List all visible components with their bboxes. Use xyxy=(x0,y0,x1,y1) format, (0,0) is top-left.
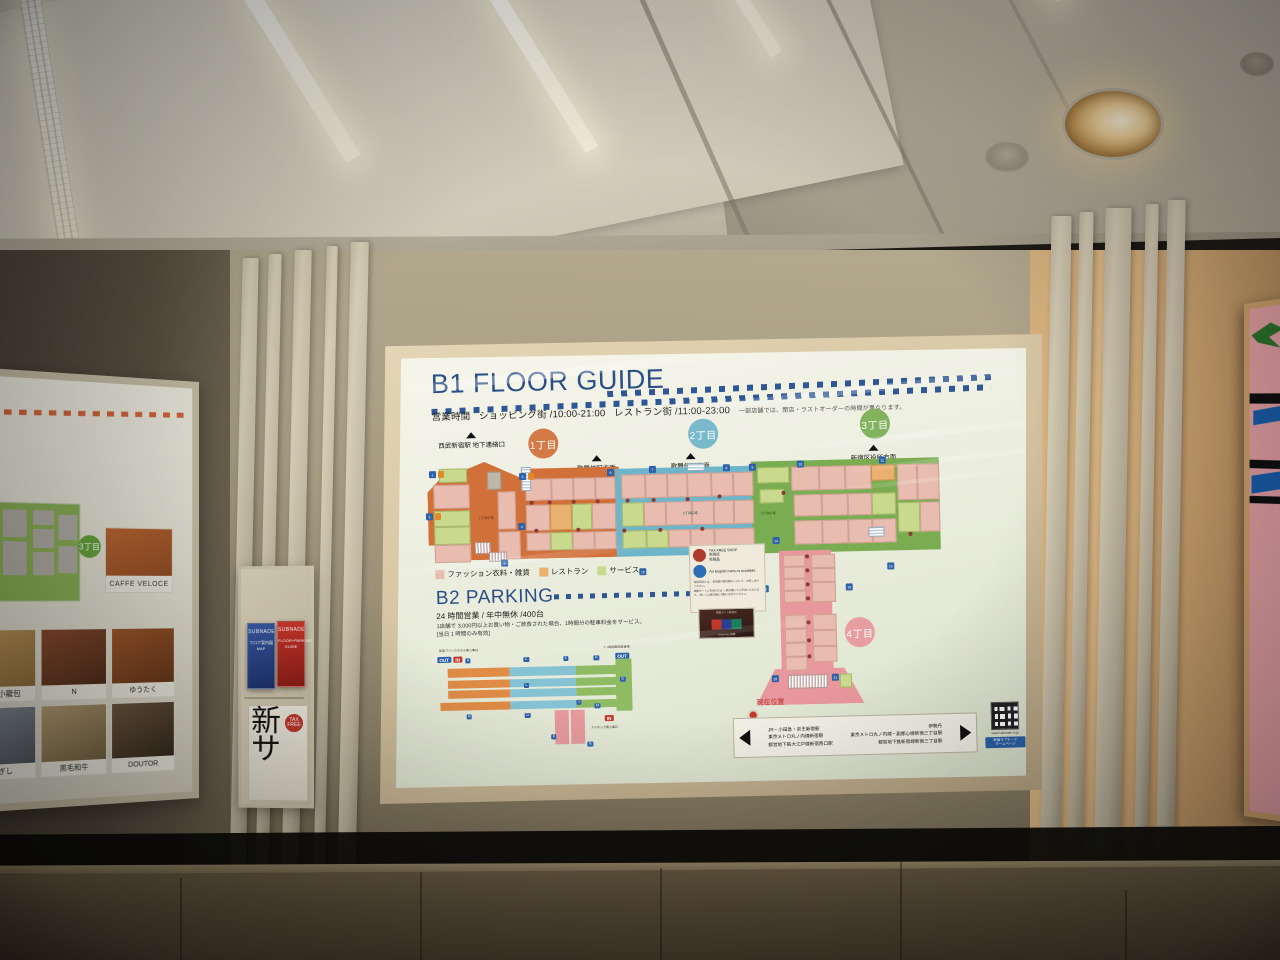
b2-zone-letter: D xyxy=(525,713,531,718)
tax-free-seal-text: TAX FREE SHOP 免税店 免税品 xyxy=(709,548,738,562)
smoke-detector-icon xyxy=(1240,52,1274,76)
art-shape-black xyxy=(1250,389,1280,407)
tax-free-seal-row: TAX FREE SHOP 免税店 免税品 xyxy=(693,547,761,562)
poster-food-caption: DOUTOR xyxy=(112,755,174,773)
left-restaurant-poster: 3丁目 CAFFE VELOCE 台湾小籠包 N ゆうたく ねぎし 黒毛和牛 D… xyxy=(0,367,199,812)
b2-zone-letter: M xyxy=(594,703,600,708)
minimap-block xyxy=(3,509,27,537)
art-shape-black xyxy=(1250,457,1280,472)
pamphlet-subtitle: FLOOR+PARKING GUIDE xyxy=(278,638,304,649)
current-location-label: 現在位置 xyxy=(756,697,784,708)
minimap-block xyxy=(33,529,54,548)
english-menu-text: An English menu is available. xyxy=(709,568,756,574)
website-button-line2: ホームページ xyxy=(986,742,1024,747)
pamphlet-subtitle: フロア案内図 MAP xyxy=(248,640,274,651)
poster-cafe-caption: CAFFE VELOCE xyxy=(106,576,172,592)
art-shape-blue xyxy=(1251,469,1280,493)
unionpay-bottom-label: UnionPay 銀聯 xyxy=(700,632,754,637)
arrow-left-icon xyxy=(739,730,750,746)
direction-left-text: JR・小田急・京王新宿駅 東京メトロ丸ノ内線新宿駅 都営地下鉄大江戸線新宿西口駅 xyxy=(768,725,833,749)
b2-entry-label-hotel: 新宿プリンスホテル側入車口 xyxy=(439,648,478,653)
right-art-panel xyxy=(1244,296,1280,824)
b2-ramp xyxy=(555,710,570,744)
unionpay-notice: 銀聯カード取扱店 UnionPay 銀聯 xyxy=(698,608,755,639)
pamphlet-red[interactable]: SUBNADE FLOOR+PARKING GUIDE xyxy=(277,621,305,687)
poster-ward-badge: 3丁目 xyxy=(78,535,101,558)
b2-row-blue xyxy=(510,700,576,710)
b2-in-marker-2: IN xyxy=(605,715,614,721)
art-shape-black xyxy=(1250,494,1280,506)
dado-seam xyxy=(420,872,422,960)
b2-ramp xyxy=(571,710,586,744)
tax-seal-line3: 免税品 xyxy=(709,557,738,562)
poster-food-caption: 黒毛和牛 xyxy=(42,759,106,777)
rack-poster-text: 新サ xyxy=(251,705,281,766)
dado-seam xyxy=(1125,890,1127,960)
b2-row-orange xyxy=(448,689,510,698)
b1-floor-guide-lightbox[interactable]: B1 FLOOR GUIDE 営業時間 ショッピング街 /10:00-21:00… xyxy=(396,348,1026,788)
tax-free-seal-icon xyxy=(693,549,706,562)
english-menu-icon xyxy=(693,565,706,578)
b2-row-blue xyxy=(510,666,576,677)
b2-zone-letter: B xyxy=(467,714,473,719)
tax-free-notice: TAX FREE SHOP 免税店 免税品 An English menu is… xyxy=(689,543,767,613)
english-menu-row: An English menu is available. xyxy=(693,564,761,579)
recessed-downlight xyxy=(1062,88,1164,160)
pamphlet-blue[interactable]: SUBNADE フロア案内図 MAP xyxy=(247,623,275,689)
rack-shelf xyxy=(244,697,304,699)
b2-entry-label-adhoc: アドホック側入車口 xyxy=(591,725,618,730)
poster-dotted-rule xyxy=(0,409,185,418)
b2-zone-letter: L xyxy=(524,683,529,688)
b2-row-blue xyxy=(510,688,576,698)
direction-bar: JR・小田急・京王新宿駅 東京メトロ丸ノ内線新宿駅 都営地下鉄大江戸線新宿西口駅… xyxy=(733,712,978,758)
poster-food-caption: N xyxy=(42,684,106,701)
arcade-signage-scene: 3丁目 CAFFE VELOCE 台湾小籠包 N ゆうたく ねぎし 黒毛和牛 D… xyxy=(0,0,1280,960)
poster-food-caption: ねぎし xyxy=(0,763,35,782)
sign-content: B1 FLOOR GUIDE 営業時間 ショッピング街 /10:00-21:00… xyxy=(396,348,1026,788)
poster-food-cell: N xyxy=(40,628,107,701)
tax-free-badge: TAX FREE xyxy=(285,714,303,732)
pamphlet-brand: SUBNADE xyxy=(248,629,274,635)
b2-row-blue xyxy=(510,678,576,688)
poster-cafe-photo: CAFFE VELOCE xyxy=(105,527,173,593)
tax-note-jp2: 銀聯カードご利用の方は 一部店舗にてご利用いただけます。 詳しくは各店舗にお問い… xyxy=(694,589,762,597)
direction-left-line3: 都営地下鉄大江戸線新宿西口駅 xyxy=(768,739,832,748)
poster-mini-map xyxy=(0,501,80,602)
website-qr-block[interactable]: www.subnade.co.jp 新宿サブナード ホームページ xyxy=(985,701,1026,748)
b2-zone-letter: J xyxy=(576,700,581,705)
arrow-right-icon xyxy=(960,725,971,741)
direction-right-text: 伊勢丹 東京メトロ丸ノ内線・副都心線新宿三丁目駅 都営地下鉄新宿線新宿三丁目駅 xyxy=(850,722,942,746)
minimap-block xyxy=(3,541,27,575)
b2-in-marker: IN xyxy=(453,657,462,663)
poster-food-cell: DOUTOR xyxy=(111,701,175,774)
b2-row-orange xyxy=(448,667,510,677)
poster-food-cell: 台湾小籠包 xyxy=(0,629,36,704)
qr-code-icon[interactable] xyxy=(991,701,1020,730)
poster-food-cell: ねぎし xyxy=(0,706,36,783)
poster-food-caption: 台湾小籠包 xyxy=(0,686,35,703)
poster-food-cell: ゆうたく xyxy=(111,627,175,699)
b2-row-orange xyxy=(448,679,510,688)
minimap-block xyxy=(58,546,77,573)
b2-noparking-label: ※ 3時間無料駐車場 xyxy=(603,645,630,650)
brochure-rack[interactable]: SUBNADE フロア案内図 MAP SUBNADE FLOOR+PARKING… xyxy=(238,566,314,809)
unionpay-card-icon xyxy=(711,619,741,630)
dado-seam xyxy=(180,878,182,960)
unionpay-top-label: 銀聯カード取扱店 xyxy=(699,610,753,615)
b2-zone-letter: A xyxy=(465,658,471,663)
art-shape-blue xyxy=(1253,404,1280,426)
minimap-block xyxy=(58,515,77,540)
lower-wall-dado xyxy=(0,866,1280,960)
b2-zone-letter: G xyxy=(620,677,626,682)
b2-zone-letter: N xyxy=(587,741,593,746)
b2-out-marker: OUT xyxy=(437,657,451,663)
poster-food-cell: 黒毛和牛 xyxy=(40,703,107,778)
poster-food-caption: ゆうたく xyxy=(112,682,174,698)
art-shape-green xyxy=(1251,321,1280,351)
dado-seam xyxy=(660,868,662,960)
website-url: www.subnade.co.jp xyxy=(985,730,1025,735)
pamphlet-brand: SUBNADE xyxy=(278,627,304,633)
tax-note-jp: 免税手続きは、 各免税対象店舗のレジにて、お申し付けください。 xyxy=(694,580,762,588)
poster-food-grid: 台湾小籠包 N ゆうたく ねぎし 黒毛和牛 DOUTOR xyxy=(0,627,175,782)
minimap-block xyxy=(33,510,54,525)
b2-row-orange xyxy=(440,701,510,711)
b2-zone-letter: H xyxy=(593,655,599,660)
minimap-block xyxy=(33,552,54,575)
b2-zone-letter: F xyxy=(563,656,568,661)
website-button[interactable]: 新宿サブナード ホームページ xyxy=(985,736,1025,749)
b2-zone-letter: C xyxy=(523,657,529,662)
dado-seam xyxy=(900,862,902,960)
rack-poster[interactable]: 新サ TAX FREE xyxy=(248,705,308,801)
b2-zone-letter: K xyxy=(551,734,557,739)
b2-row-green-side xyxy=(615,659,632,711)
smoke-detector-icon xyxy=(985,142,1029,172)
